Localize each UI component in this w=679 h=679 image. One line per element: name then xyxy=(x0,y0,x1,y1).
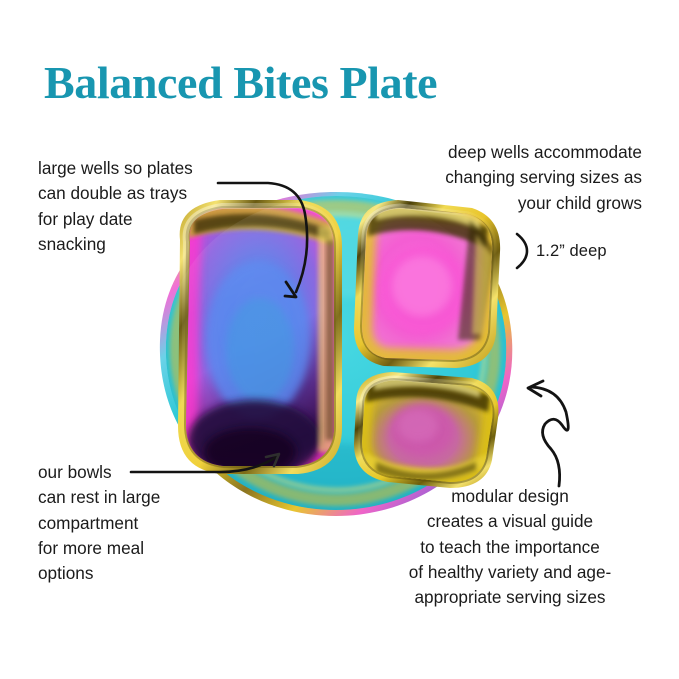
annotation-deep-wells: deep wells accommodate changing serving … xyxy=(372,140,642,216)
arrow-modular-design xyxy=(531,387,568,486)
annotation-large-wells: large wells so plates can double as tray… xyxy=(38,156,273,257)
depth-label: 1.2” deep xyxy=(536,243,607,260)
infographic-canvas: Balanced Bites Plate xyxy=(0,0,679,679)
annotation-modular-design: modular design creates a visual guide to… xyxy=(374,484,646,610)
depth-callout: 1.2” deep xyxy=(515,232,607,270)
annotation-our-bowls: our bowls can rest in large compartment … xyxy=(38,460,253,586)
page-title: Balanced Bites Plate xyxy=(44,56,437,109)
depth-bracket-icon xyxy=(515,232,529,270)
